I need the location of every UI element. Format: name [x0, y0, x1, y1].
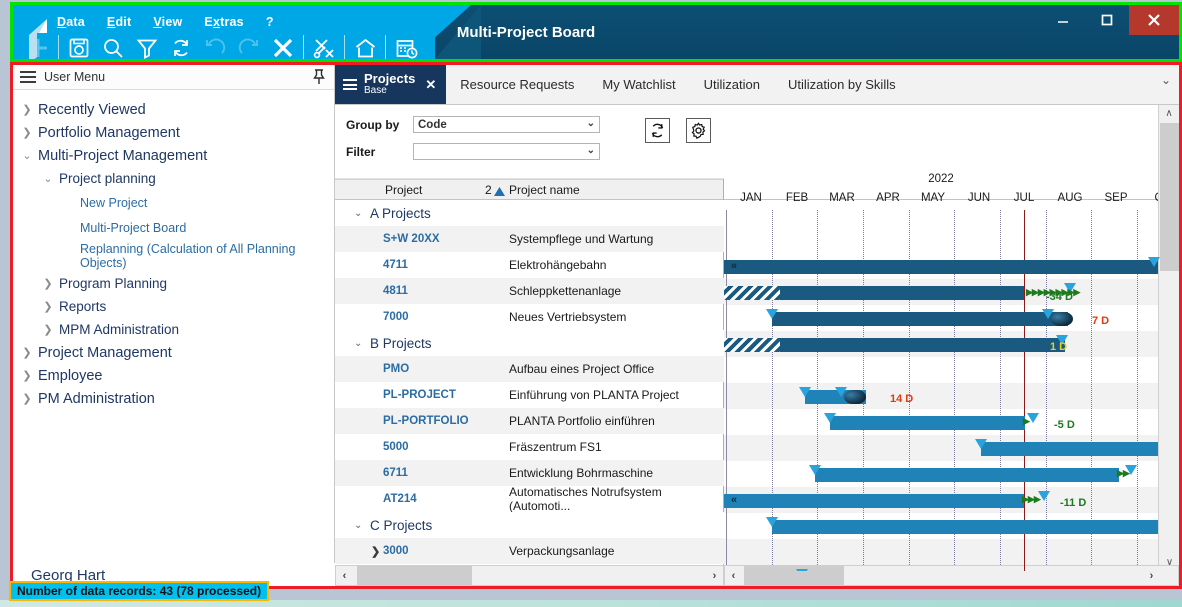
sidebar-item-portfolio-management[interactable]: ❯ Portfolio Management — [13, 121, 334, 144]
group-by-row: Group by Code ⌄ — [335, 116, 600, 133]
tab-sublabel: Base — [364, 86, 415, 97]
gantt-start-marker-icon — [766, 309, 778, 319]
chevron-right-icon[interactable]: ❯ — [371, 545, 380, 558]
sidebar-item-project-planning[interactable]: ⌄ Project planning — [13, 167, 334, 190]
chevron-right-icon[interactable]: ❯ — [37, 277, 59, 290]
project-code[interactable]: 4811 — [383, 285, 408, 297]
gantt-trend-arrows-icon: ▶▶▶ — [1022, 494, 1040, 505]
tab-label: My Watchlist — [602, 77, 675, 92]
scroll-thumb[interactable] — [1160, 123, 1179, 271]
gantt-year-label: 2022 — [724, 173, 1158, 185]
gantt-delay-label: -5 D — [1054, 419, 1075, 431]
minimize-button[interactable] — [1041, 5, 1085, 35]
project-name: Elektrohängebahn — [509, 258, 606, 272]
project-name: Fräszentrum FS1 — [509, 440, 602, 454]
maximize-button[interactable] — [1085, 5, 1129, 35]
sidebar-item-project-management[interactable]: ❯ Project Management — [13, 341, 334, 364]
sidebar-item-mpm-administration[interactable]: ❯ MPM Administration — [13, 318, 334, 341]
gantt-trend-arrows-icon: ▶▶ — [1117, 468, 1129, 479]
sidebar-item-label: Reports — [59, 299, 106, 314]
sidebar-item-multi-project-management[interactable]: ⌄ Multi-Project Management — [13, 144, 334, 167]
gantt-end-marker-icon — [835, 387, 847, 397]
table-row[interactable]: ❯ 3000 Verpackungsanlage — [335, 538, 724, 564]
gantt-delay-label: -34 D — [1046, 291, 1073, 303]
window-controls[interactable] — [1041, 5, 1179, 35]
project-code[interactable]: 3000 — [383, 545, 409, 557]
project-code[interactable]: AT214 — [383, 493, 417, 505]
tab-projects[interactable]: Projects Base ✕ — [335, 65, 446, 104]
sidebar-item-label: Project Management — [38, 345, 172, 361]
gantt-continues-left-icon: « — [731, 494, 737, 506]
tab-utilization[interactable]: Utilization — [690, 65, 774, 104]
sort-order-badge: 2 — [485, 183, 492, 197]
project-code[interactable]: 4711 — [383, 259, 408, 271]
table-row[interactable]: ⌄ A Projects — [335, 200, 724, 226]
sidebar-item-program-planning[interactable]: ❯ Program Planning — [13, 272, 334, 295]
project-name: PLANTA Portfolio einführen — [509, 414, 655, 428]
status-text: Number of data records: 43 (78 processed… — [17, 584, 261, 598]
sidebar-item-label: Recently Viewed — [38, 102, 146, 118]
menu-edit[interactable]: Edit — [107, 15, 131, 29]
table-header: Project 2 Project name — [335, 179, 724, 200]
gantt-month-label: MAR — [819, 192, 865, 204]
menu-bar[interactable]: Data Edit View Extras ? — [57, 13, 274, 31]
sidebar-item-label: Portfolio Management — [38, 125, 180, 141]
project-name: Automatisches Notrufsystem (Automoti... — [509, 485, 724, 513]
sidebar-item-label: Multi-Project Board — [80, 221, 186, 235]
chevron-down-icon[interactable]: ⌄ — [1161, 73, 1171, 87]
table-row[interactable]: PL-PROJECT Einführung von PLANTA Project — [335, 382, 724, 408]
hamburger-icon[interactable] — [20, 68, 36, 86]
gantt-delay-label: 14 D — [890, 393, 913, 405]
undo-icon — [198, 32, 232, 59]
sidebar-item-label: Project planning — [59, 171, 156, 186]
gantt-month-label: APR — [865, 192, 911, 204]
project-code[interactable]: PL-PORTFOLIO — [383, 415, 469, 427]
chevron-down-icon[interactable]: ⌄ — [354, 208, 362, 219]
table-row[interactable]: 5000 Fräszentrum FS1 — [335, 434, 724, 460]
sidebar-item-pm-administration[interactable]: ❯ PM Administration — [13, 387, 334, 410]
chevron-down-icon[interactable]: ⌄ — [16, 149, 38, 162]
gantt-bar[interactable] — [724, 260, 1158, 274]
table-row[interactable]: AT214 Automatisches Notrufsystem (Automo… — [335, 486, 724, 512]
settings-button[interactable] — [686, 118, 711, 143]
sidebar-item-replanning[interactable]: Replanning (Calculation of All Planning … — [13, 240, 334, 272]
gantt-delay-label: 1 D — [1050, 341, 1067, 353]
gantt-month-label: SEP — [1093, 192, 1139, 204]
application-window: Data Edit View Extras ? — [0, 0, 1182, 607]
gantt-chart: 2022 JAN FEB MAR APR MAY JUN JUL AUG SEP… — [724, 105, 1179, 571]
scroll-left-button[interactable]: ‹ — [336, 566, 353, 585]
gantt-month-label: AUG — [1047, 192, 1093, 204]
tab-my-watchlist[interactable]: My Watchlist — [588, 65, 689, 104]
gantt-month-label: JUN — [956, 192, 1002, 204]
scroll-left-button[interactable]: ‹ — [725, 566, 742, 585]
gantt-milestone-icon — [844, 390, 866, 404]
gantt-start-marker-icon — [809, 465, 821, 475]
gantt-bar[interactable] — [780, 286, 1024, 300]
group-by-label: Group by — [335, 118, 413, 132]
menu-extras[interactable]: Extras — [204, 15, 243, 29]
toolbar-separator-2 — [303, 35, 304, 59]
sidebar-title: User Menu — [44, 70, 105, 84]
toolbar-separator-3 — [344, 35, 345, 59]
gantt-continues-left-icon: « — [731, 260, 737, 272]
gantt-bar[interactable] — [981, 442, 1158, 456]
table-row[interactable]: 4711 Elektrohängebahn — [335, 252, 724, 278]
gantt-delay-label: 7 D — [1092, 315, 1109, 327]
redo-icon — [232, 32, 266, 59]
sidebar-item-label: MPM Administration — [59, 322, 179, 337]
gear-icon — [690, 122, 707, 139]
tab-label: Resource Requests — [460, 77, 574, 92]
sidebar-item-new-project[interactable]: New Project — [13, 190, 334, 215]
sidebar-tree[interactable]: ❯ Recently Viewed ❯ Portfolio Management… — [13, 90, 334, 410]
save-icon[interactable] — [62, 32, 96, 59]
group-by-select[interactable]: Code ⌄ — [413, 116, 600, 133]
gantt-start-marker-icon — [975, 439, 987, 449]
gantt-end-marker-icon — [1148, 257, 1160, 267]
project-code[interactable]: 5000 — [383, 441, 409, 453]
menu-view[interactable]: View — [153, 15, 182, 29]
app-logo-icon — [27, 11, 67, 59]
sort-ascending-icon[interactable] — [494, 185, 505, 199]
sidebar-item-label: Multi-Project Management — [38, 148, 207, 164]
chevron-right-icon[interactable]: ❯ — [37, 323, 59, 336]
gantt-bar[interactable] — [815, 468, 1119, 482]
chevron-right-icon[interactable]: ❯ — [16, 369, 38, 382]
sidebar-item-multi-project-board[interactable]: Multi-Project Board — [13, 215, 334, 240]
scroll-thumb[interactable] — [744, 566, 844, 585]
gantt-month-label: MAY — [910, 192, 956, 204]
group-by-value: Code — [418, 119, 447, 131]
sidebar-item-label: Program Planning — [59, 276, 167, 291]
sidebar: User Menu ❯ Recently Viewed ❯ Portfolio … — [13, 65, 335, 586]
scroll-up-button[interactable]: ∧ — [1159, 105, 1179, 122]
gantt-end-marker-icon — [1042, 309, 1054, 319]
chevron-right-icon[interactable]: ❯ — [16, 103, 38, 116]
table-row[interactable]: PMO Aufbau eines Project Office — [335, 356, 724, 382]
bottom-band — [0, 600, 1182, 607]
main-body: User Menu ❯ Recently Viewed ❯ Portfolio … — [13, 65, 1179, 586]
column-header-project-name[interactable]: Project name — [509, 183, 580, 197]
project-code[interactable]: 7000 — [383, 311, 409, 323]
table-row[interactable]: 6711 Entwicklung Bohrmaschine — [335, 460, 724, 486]
project-code[interactable]: 6711 — [383, 467, 408, 479]
gantt-timeline-header: 2022 JAN FEB MAR APR MAY JUN JUL AUG SEP… — [724, 105, 1158, 200]
tools-icon[interactable] — [307, 32, 341, 59]
search-icon[interactable] — [96, 32, 130, 59]
sidebar-item-label: Employee — [38, 368, 102, 384]
gantt-bar-hatched[interactable] — [724, 338, 782, 352]
project-table: ⌄ A Projects S+W 20XX Systempflege und W… — [335, 200, 724, 571]
gantt-bar[interactable] — [772, 520, 1158, 534]
toolbar-separator-4 — [385, 35, 386, 59]
chevron-right-icon[interactable]: ❯ — [16, 346, 38, 359]
gantt-bar[interactable] — [830, 416, 1025, 430]
gantt-month-label: JAN — [728, 192, 774, 204]
sidebar-item-reports[interactable]: ❯ Reports — [13, 295, 334, 318]
project-name: Verpackungsanlage — [509, 544, 614, 558]
gantt-bar[interactable] — [772, 312, 1068, 326]
project-name: Neues Vertriebsystem — [509, 310, 626, 324]
filter-icon[interactable] — [130, 32, 164, 59]
chevron-right-icon[interactable]: ❯ — [16, 392, 38, 405]
sidebar-header: User Menu — [13, 65, 334, 90]
sidebar-item-recently-viewed[interactable]: ❯ Recently Viewed — [13, 98, 334, 121]
group-name: B Projects — [370, 336, 432, 351]
filter-label: Filter — [335, 145, 413, 159]
refresh-icon — [649, 122, 666, 139]
filter-panel: Group by Code ⌄ Filter ⌄ — [335, 105, 724, 179]
project-name: Entwicklung Bohrmaschine — [509, 466, 653, 480]
tab-utilization-by-skills[interactable]: Utilization by Skills — [774, 65, 910, 104]
gantt-bar-hatched[interactable] — [724, 286, 782, 300]
project-name: Schleppkettenanlage — [509, 284, 621, 298]
toolbar[interactable] — [21, 31, 423, 59]
group-name: C Projects — [370, 518, 432, 533]
gantt-trend-arrows-icon: ▶ — [1023, 416, 1029, 427]
gantt-row-stripe — [724, 539, 1158, 565]
scroll-right-button[interactable]: › — [1143, 566, 1160, 585]
tab-menu-icon[interactable] — [343, 77, 357, 93]
title-bar: Data Edit View Extras ? — [13, 5, 1179, 59]
project-code[interactable]: PMO — [383, 363, 409, 375]
sidebar-item-label: PM Administration — [38, 391, 155, 407]
scroll-thumb[interactable] — [357, 566, 472, 585]
menu-help[interactable]: ? — [266, 15, 274, 29]
table-row[interactable]: 4811 Schleppkettenanlage — [335, 278, 724, 304]
group-name: A Projects — [370, 206, 431, 221]
tab-resource-requests[interactable]: Resource Requests — [446, 65, 588, 104]
tab-close-icon[interactable]: ✕ — [425, 77, 436, 93]
refresh-button[interactable] — [645, 118, 670, 143]
gantt-milestone-icon — [1051, 312, 1073, 326]
tab-label: Projects — [364, 72, 415, 86]
gantt-delay-label: -11 D — [1060, 497, 1086, 509]
tab-bar[interactable]: Projects Base ✕ Resource Requests My Wat… — [335, 65, 1179, 105]
table-row[interactable]: PL-PORTFOLIO PLANTA Portfolio einführen — [335, 408, 724, 434]
chevron-down-icon[interactable]: ⌄ — [354, 338, 362, 349]
project-code[interactable]: S+W 20XX — [383, 233, 440, 245]
filter-row: Filter ⌄ — [335, 143, 600, 160]
sidebar-item-label: Replanning (Calculation of All Planning … — [80, 242, 334, 270]
tab-label: Utilization by Skills — [788, 77, 896, 92]
grid-horizontal-scrollbar[interactable]: ‹ › — [335, 565, 724, 586]
close-button[interactable] — [1129, 5, 1179, 35]
gantt-horizontal-scrollbar[interactable]: ‹ › — [724, 565, 1179, 586]
chevron-down-icon[interactable]: ⌄ — [587, 118, 595, 129]
project-name: Systempflege und Wartung — [509, 232, 653, 246]
table-row[interactable]: ⌄ B Projects — [335, 330, 724, 356]
project-name: Aufbau eines Project Office — [509, 362, 654, 376]
tab-label: Utilization — [704, 77, 760, 92]
refresh-icon[interactable] — [164, 32, 198, 59]
pin-icon[interactable] — [312, 69, 326, 90]
chevron-right-icon[interactable]: ❯ — [16, 126, 38, 139]
scroll-track[interactable] — [353, 566, 706, 585]
gantt-start-marker-icon — [824, 413, 836, 423]
chevron-right-icon[interactable]: ❯ — [37, 300, 59, 313]
chevron-down-icon[interactable]: ⌄ — [37, 172, 59, 185]
content-panel: Projects Base ✕ Resource Requests My Wat… — [335, 65, 1179, 586]
gantt-bar[interactable] — [780, 338, 1065, 352]
table-row[interactable]: 7000 Neues Vertriebsystem — [335, 304, 724, 330]
project-code[interactable]: PL-PROJECT — [383, 389, 456, 401]
gantt-bar[interactable] — [724, 494, 1024, 508]
column-header-project[interactable]: Project — [385, 183, 422, 197]
sidebar-item-employee[interactable]: ❯ Employee — [13, 364, 334, 387]
chevron-down-icon[interactable]: ⌄ — [587, 145, 595, 156]
table-row[interactable]: ⌄ C Projects — [335, 512, 724, 538]
sidebar-item-label: New Project — [80, 196, 147, 210]
filter-select[interactable]: ⌄ — [413, 143, 600, 160]
close-icon[interactable] — [266, 32, 300, 59]
home-icon[interactable] — [348, 32, 382, 59]
calendar-clock-icon[interactable] — [389, 32, 423, 59]
status-bar: Number of data records: 43 (78 processed… — [9, 581, 269, 601]
gantt-start-marker-icon — [799, 387, 811, 397]
gantt-row-stripe — [724, 383, 1158, 409]
chevron-down-icon[interactable]: ⌄ — [354, 520, 362, 531]
gantt-start-marker-icon — [796, 569, 808, 571]
scroll-right-button[interactable]: › — [706, 566, 723, 585]
project-name: Einführung von PLANTA Project — [509, 388, 679, 402]
gantt-month-label: JUL — [1001, 192, 1047, 204]
gantt-vertical-scrollbar[interactable]: ∧ ∨ — [1158, 105, 1179, 571]
gantt-month-label: FEB — [774, 192, 820, 204]
table-row[interactable]: S+W 20XX Systempflege und Wartung — [335, 226, 724, 252]
gantt-start-marker-icon — [766, 517, 778, 527]
